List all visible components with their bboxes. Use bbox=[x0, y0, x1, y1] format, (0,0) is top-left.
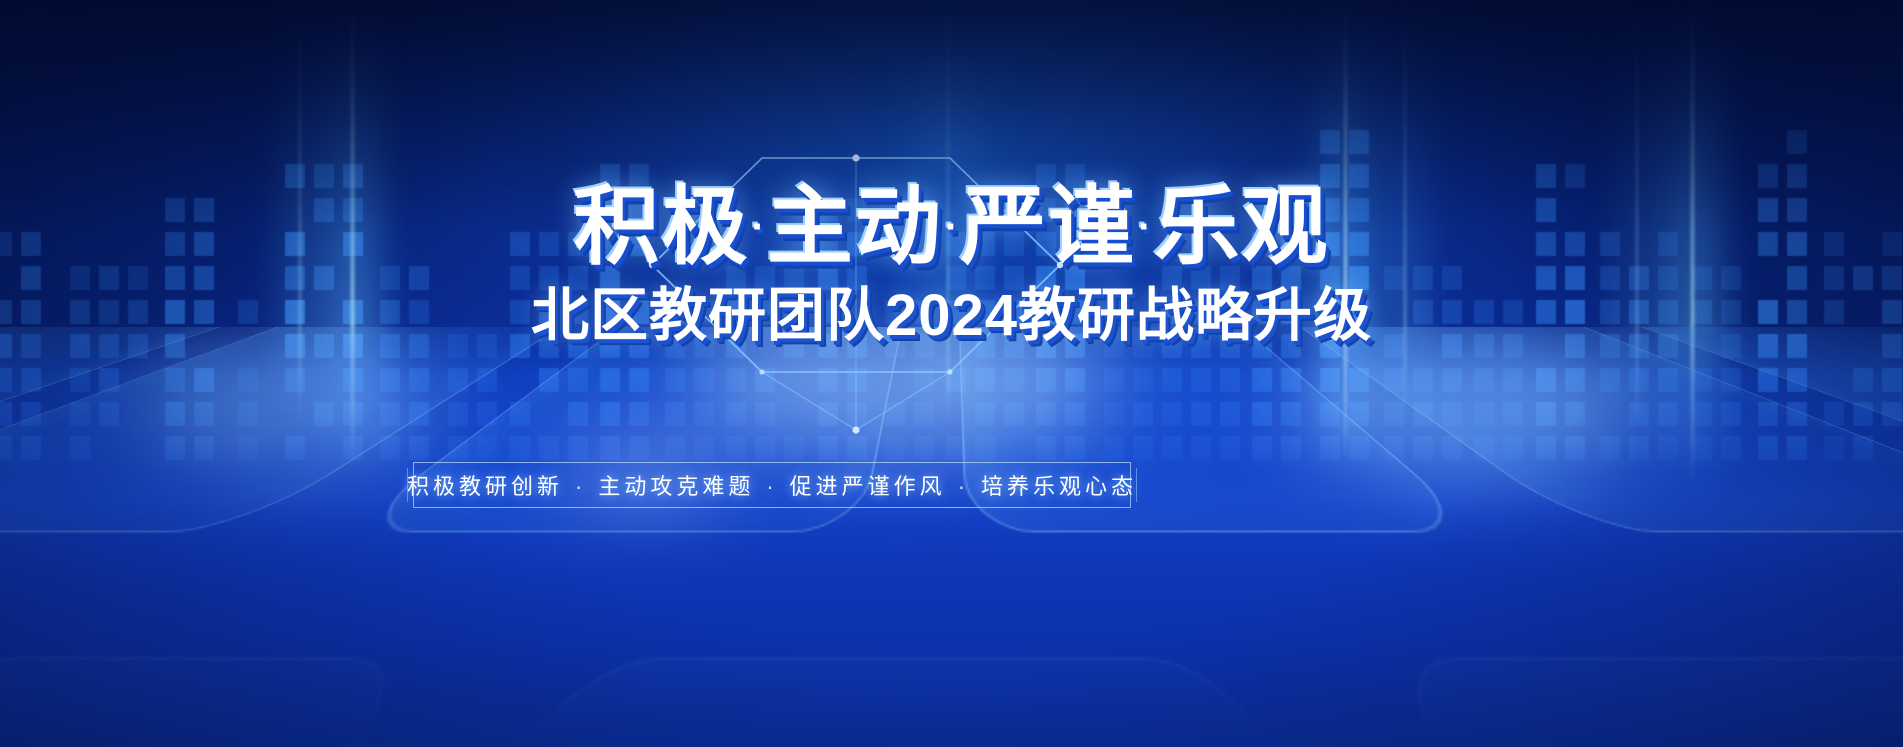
slogan-bar: 积极教研创新·主动攻克难题·促进严谨作风·培养乐观心态 bbox=[413, 462, 1131, 508]
main-title-sep-3: · bbox=[1136, 205, 1153, 249]
sub-title: 北区教研团队2024教研战略升级 bbox=[0, 268, 1903, 352]
slogan-item-4: 培养乐观心态 bbox=[981, 474, 1137, 499]
banner-root: 积极·主动·严谨·乐观 北区教研团队2024教研战略升级 积极教研创新·主动攻克… bbox=[0, 0, 1903, 747]
slogan-sep-3: · bbox=[946, 474, 981, 499]
main-title-word-2: 主动 bbox=[767, 179, 943, 275]
main-title-sep-2: · bbox=[943, 205, 960, 249]
banner-content: 积极·主动·严谨·乐观 北区教研团队2024教研战略升级 积极教研创新·主动攻克… bbox=[0, 0, 1903, 747]
slogan-item-1: 积极教研创新 bbox=[407, 474, 563, 499]
main-title: 积极·主动·严谨·乐观 bbox=[0, 182, 1903, 273]
main-title-sep-1: · bbox=[750, 205, 767, 249]
slogan-sep-2: · bbox=[754, 474, 789, 499]
slogan-item-2: 主动攻克难题 bbox=[598, 474, 754, 499]
main-title-word-3: 严谨 bbox=[960, 179, 1136, 275]
slogan-item-3: 促进严谨作风 bbox=[790, 474, 946, 499]
main-title-word-1: 积极 bbox=[574, 179, 750, 275]
main-title-word-4: 乐观 bbox=[1153, 179, 1329, 275]
slogan-sep-1: · bbox=[563, 474, 598, 499]
slogan-text: 积极教研创新·主动攻克难题·促进严谨作风·培养乐观心态 bbox=[407, 469, 1137, 501]
